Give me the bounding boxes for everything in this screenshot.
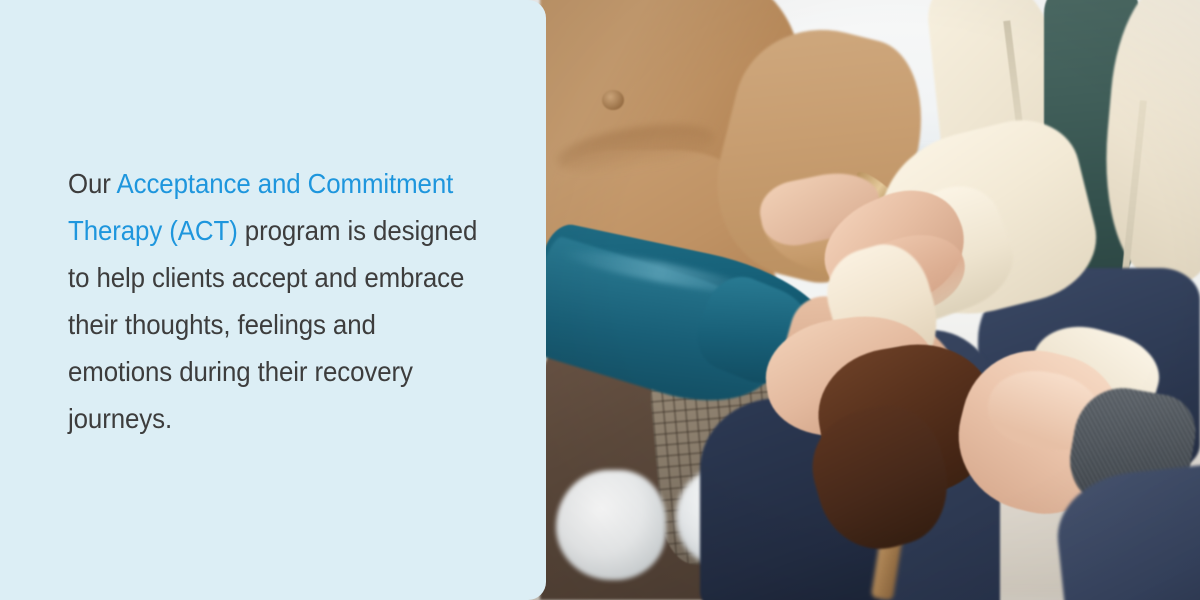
copy-panel: Our Acceptance and Commitment Therapy (A… [0, 0, 546, 600]
headline-lead: Our [68, 168, 116, 199]
headline-body: program is designed to help clients acce… [68, 215, 477, 434]
photo-vignette [520, 0, 1200, 600]
copy-block: Our Acceptance and Commitment Therapy (A… [68, 160, 508, 442]
program-description-headline: Our Acceptance and Commitment Therapy (A… [68, 160, 482, 442]
banner-page: Our Acceptance and Commitment Therapy (A… [0, 0, 1200, 600]
